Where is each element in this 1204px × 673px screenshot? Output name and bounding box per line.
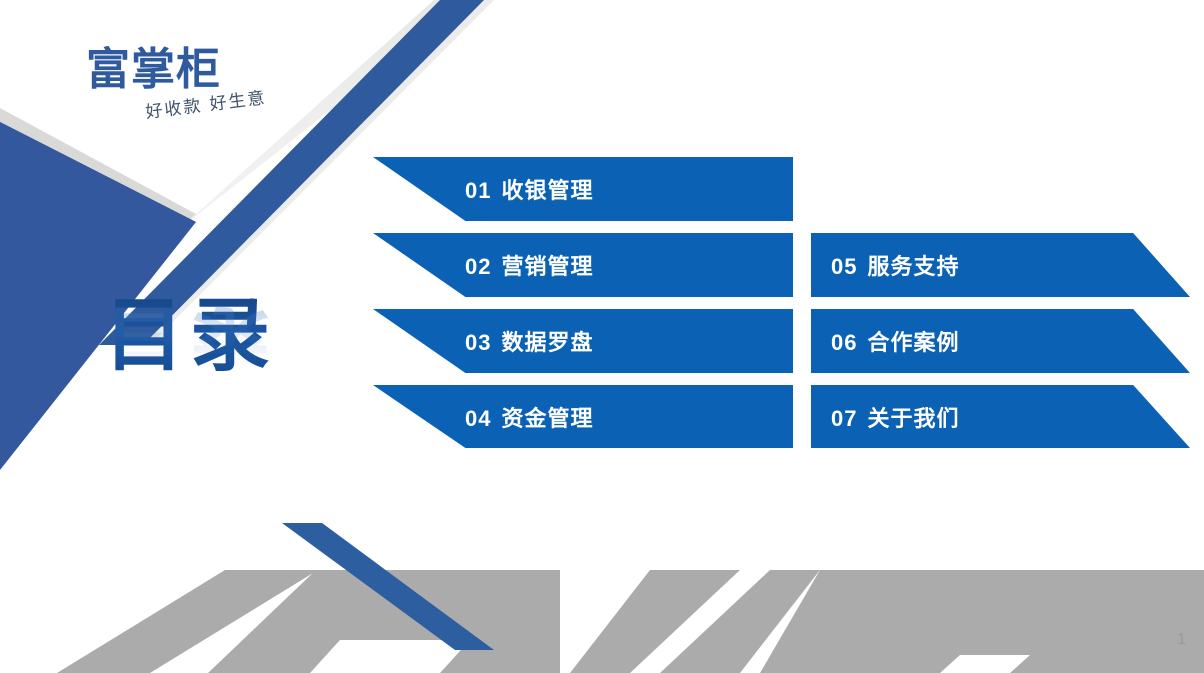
toc-item-05[interactable]: 05服务支持 [811,233,1190,297]
bottom-gray-band-notch [310,640,470,673]
toc-item-06-text: 06合作案例 [831,325,960,357]
page-title-reflection: 目录 [104,302,354,382]
toc-item-07[interactable]: 07关于我们 [811,385,1190,448]
toc-item-04-label: 资金管理 [501,406,593,431]
toc-item-06[interactable]: 06合作案例 [811,309,1190,373]
toc-item-05-label: 服务支持 [867,254,959,279]
toc-item-01-number: 01 [465,178,491,203]
toc-item-07-number: 07 [831,406,857,431]
bottom-gray-band-1 [57,570,318,673]
toc-item-03[interactable]: 03数据罗盘 [373,309,793,373]
bottom-blue-stripe [282,523,494,650]
bottom-gray-band-2 [208,570,560,673]
toc-item-02[interactable]: 02营销管理 [373,233,793,297]
toc-item-02-text: 02营销管理 [465,249,594,281]
page-number: 1 [1177,631,1186,649]
toc-item-06-number: 06 [831,330,857,355]
toc-item-05-number: 05 [831,254,857,279]
slide-canvas: 富掌柜 好收款 好生意 目录 目录 01收银管理 02营销管理 03数据罗盘 0… [0,0,1204,673]
bottom-gray-band-3 [570,570,820,673]
toc-item-02-label: 营销管理 [501,254,593,279]
toc-item-03-label: 数据罗盘 [501,330,593,355]
toc-item-04-number: 04 [465,406,491,431]
bottom-white-notch-1 [940,655,1030,673]
toc-item-01-label: 收银管理 [501,178,593,203]
toc-item-07-label: 关于我们 [867,406,959,431]
toc-item-04-text: 04资金管理 [465,401,594,433]
toc-item-01[interactable]: 01收银管理 [373,157,793,221]
bottom-gray-band-5 [1020,570,1204,673]
toc-item-03-text: 03数据罗盘 [465,325,594,357]
page-title: 目录 目录 [104,296,354,476]
bottom-gray-band-4 [760,570,1204,673]
toc-item-05-text: 05服务支持 [831,249,960,281]
brand-logo: 富掌柜 好收款 好生意 [86,48,316,148]
bottom-white-gap [630,570,770,673]
toc-item-04[interactable]: 04资金管理 [373,385,793,448]
toc-item-01-text: 01收银管理 [465,173,594,205]
toc-item-06-label: 合作案例 [867,330,959,355]
toc-item-07-text: 07关于我们 [831,401,960,433]
toc-item-02-number: 02 [465,254,491,279]
toc-item-03-number: 03 [465,330,491,355]
